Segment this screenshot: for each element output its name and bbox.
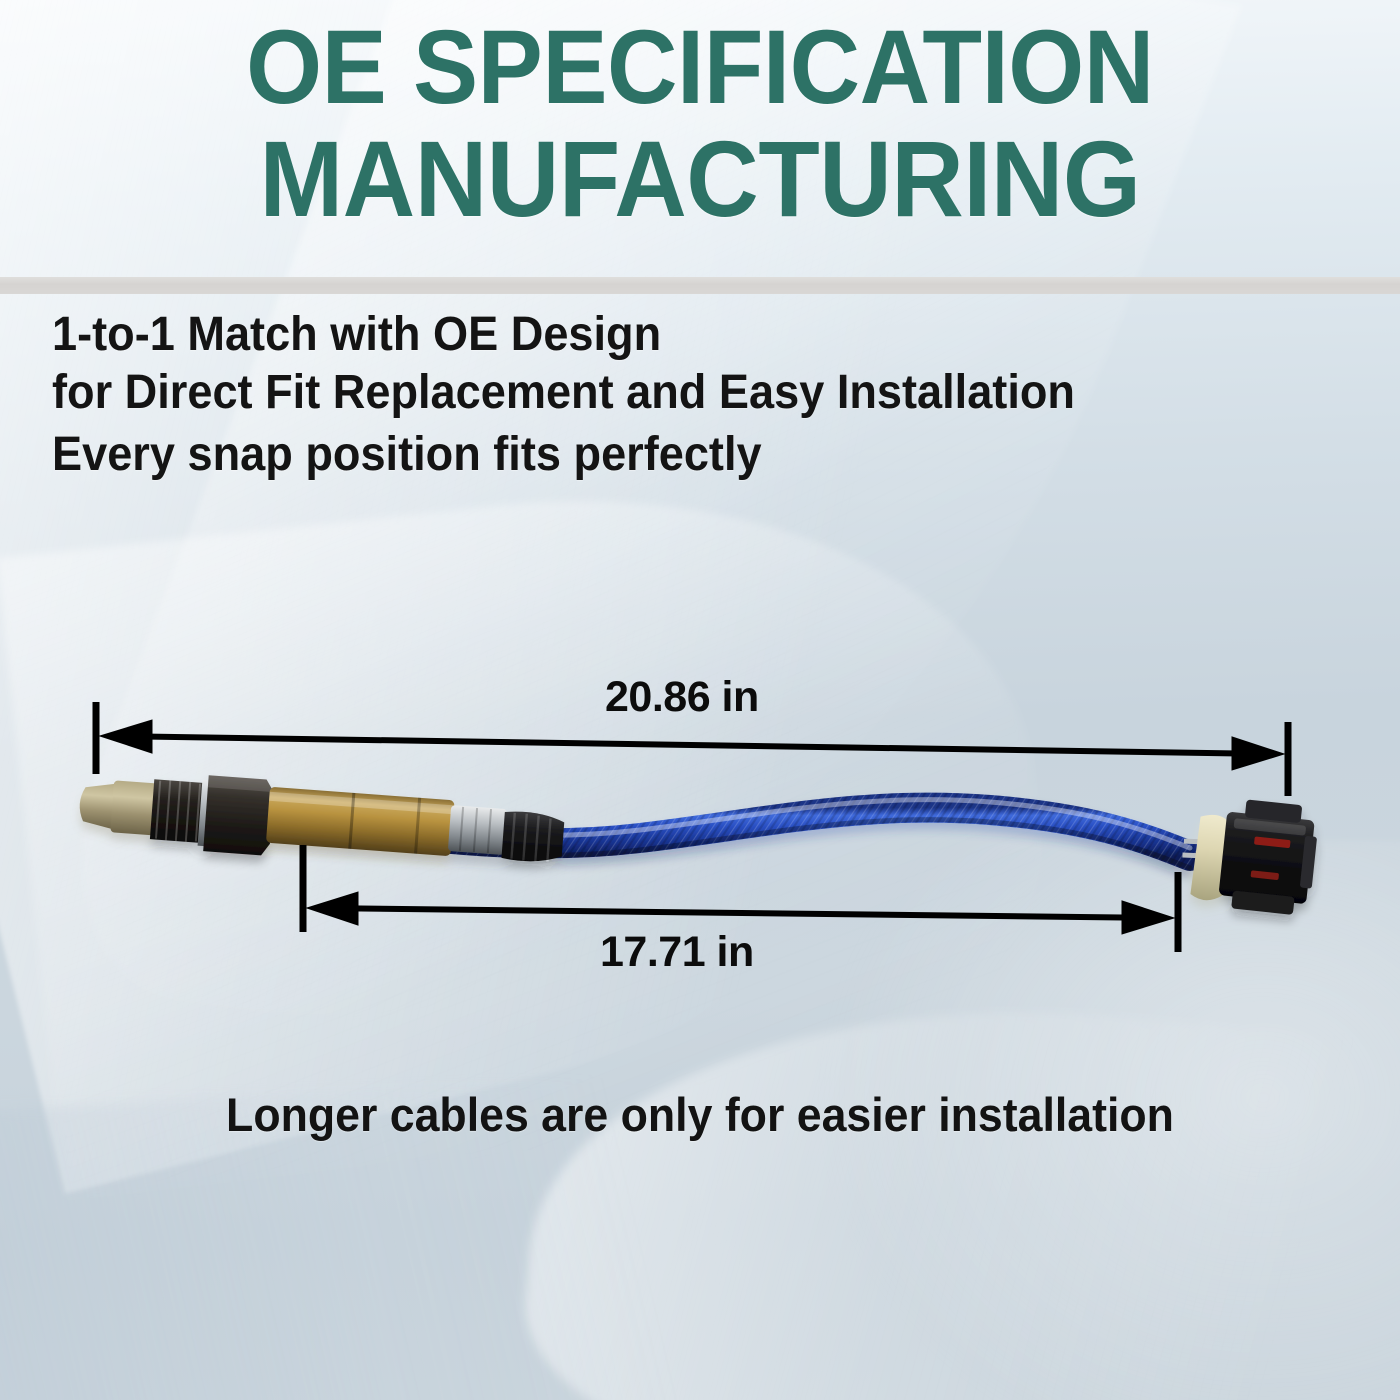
dimension-arrow-line-top — [112, 736, 1272, 754]
dimension-label-total-length: 20.86 in — [605, 673, 759, 722]
dimension-arrowhead-left-bottom — [307, 892, 358, 925]
dimension-label-cable-length: 17.71 in — [600, 928, 754, 977]
dimension-arrowhead-left-top — [100, 720, 152, 753]
product-infographic: OE SPECIFICATION MANUFACTURING 1-to-1 Ma… — [0, 0, 1400, 1400]
dimension-arrow-line-bottom — [318, 908, 1166, 918]
dimension-arrowhead-right-bottom — [1122, 901, 1174, 934]
dimension-arrowhead-right-top — [1232, 737, 1284, 770]
